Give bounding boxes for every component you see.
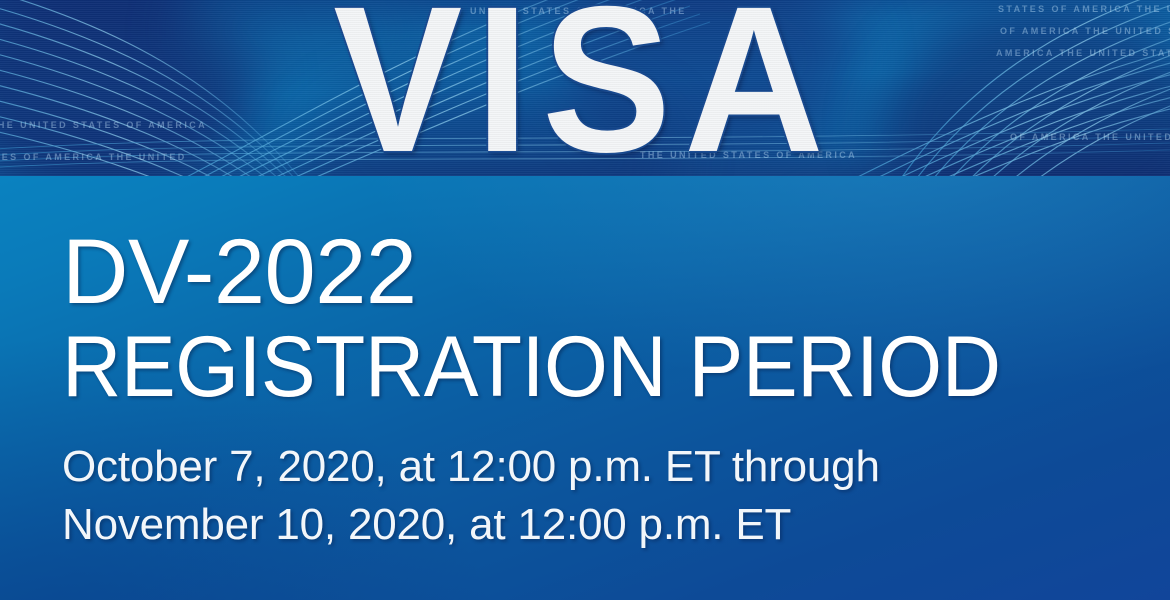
headline-block: DV-2022 REGISTRATION PERIOD [62,224,1045,414]
headline-line-1: DV-2022 [62,224,1045,320]
poster-body: DV-2022 REGISTRATION PERIOD October 7, 2… [0,176,1170,600]
guilloche-security-pattern [0,0,1170,176]
date-block: October 7, 2020, at 12:00 p.m. ET throug… [62,438,880,554]
dv-2022-registration-poster: UNITED STATES OF AMERICA THE STATES OF A… [0,0,1170,600]
date-line-2: November 10, 2020, at 12:00 p.m. ET [62,496,880,554]
headline-line-2: REGISTRATION PERIOD [62,320,1001,414]
visa-banner-image: UNITED STATES OF AMERICA THE STATES OF A… [0,0,1170,176]
date-line-1: October 7, 2020, at 12:00 p.m. ET throug… [62,438,880,496]
